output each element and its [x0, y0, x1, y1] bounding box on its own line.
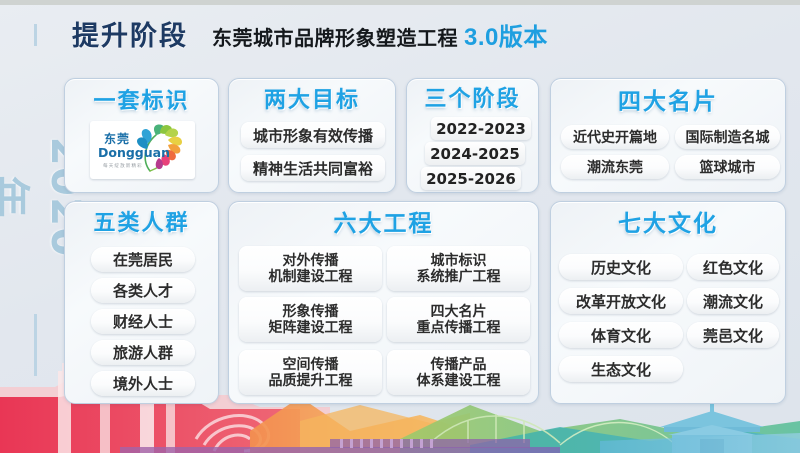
- card-three-phases[interactable]: 三个阶段 2022-2023 2024-2025 2025-2026: [406, 78, 539, 193]
- year-rail: 2020年: [8, 24, 60, 424]
- project-item-3[interactable]: 形象传播 矩阵建设工程: [239, 297, 382, 342]
- project-item-3-line1: 形象传播: [283, 304, 339, 320]
- header: 提升阶段 东莞城市品牌形象塑造工程 3.0版本: [72, 14, 548, 53]
- card-six-projects[interactable]: 六大工程 对外传播 机制建设工程 城市标识 系统推广工程 形象传播 矩阵建设工程…: [228, 201, 539, 404]
- project-item-1-line1: 对外传播: [283, 253, 339, 269]
- card-five-people[interactable]: 五类人群 在莞居民 各类人才 财经人士 旅游人群 境外人士: [64, 201, 219, 404]
- card-two-goals[interactable]: 两大目标 城市形象有效传播 精神生活共同富裕: [228, 78, 396, 193]
- project-item-2-line2: 系统推广工程: [417, 269, 501, 285]
- culture-item-2[interactable]: 红色文化: [687, 254, 779, 280]
- card-title-phases: 三个阶段: [407, 88, 538, 110]
- project-item-6-line2: 体系建设工程: [417, 373, 501, 389]
- svg-text:每天绽放新精彩: 每天绽放新精彩: [103, 162, 143, 169]
- project-item-5[interactable]: 空间传播 品质提升工程: [239, 350, 382, 395]
- phase-item-3[interactable]: 2025-2026: [421, 167, 521, 190]
- card-title-namecards: 四大名片: [551, 90, 785, 113]
- project-item-4[interactable]: 四大名片 重点传播工程: [387, 297, 530, 342]
- card-four-namecards[interactable]: 四大名片 近代史开篇地 国际制造名城 潮流东莞 篮球城市: [550, 78, 786, 193]
- infographic-root: 2020年 提升阶段 东莞城市品牌形象塑造工程 3.0版本 一套标识: [0, 0, 800, 453]
- people-item-1[interactable]: 在莞居民: [91, 247, 195, 272]
- card-title-people: 五类人群: [65, 212, 218, 234]
- project-item-4-line1: 四大名片: [431, 304, 487, 320]
- project-item-6-line1: 传播产品: [431, 357, 487, 373]
- rail-line-top: [34, 24, 37, 46]
- rail-line-bottom: [34, 314, 37, 376]
- culture-item-7[interactable]: 生态文化: [559, 356, 683, 382]
- project-item-2[interactable]: 城市标识 系统推广工程: [387, 246, 530, 291]
- project-item-3-line2: 矩阵建设工程: [269, 320, 353, 336]
- card-title-goals: 两大目标: [229, 89, 395, 111]
- project-item-2-line1: 城市标识: [431, 253, 487, 269]
- card-seven-cultures[interactable]: 七大文化 历史文化 红色文化 改革开放文化 潮流文化 体育文化 莞邑文化 生态文…: [550, 201, 786, 404]
- project-item-5-line1: 空间传播: [283, 357, 339, 373]
- people-item-5[interactable]: 境外人士: [91, 371, 195, 396]
- project-item-5-line2: 品质提升工程: [269, 373, 353, 389]
- header-version-label: 3.0版本: [464, 17, 548, 52]
- card-one-identity[interactable]: 一套标识 东莞: [64, 78, 219, 193]
- culture-item-4[interactable]: 潮流文化: [687, 288, 779, 314]
- dongguan-logo: 东莞 Dongguan 每天绽放新精彩: [90, 121, 195, 179]
- people-item-4[interactable]: 旅游人群: [91, 340, 195, 365]
- culture-item-6[interactable]: 莞邑文化: [687, 322, 779, 348]
- namecard-item-3[interactable]: 潮流东莞: [561, 155, 669, 179]
- culture-item-1[interactable]: 历史文化: [559, 254, 683, 280]
- card-title-projects: 六大工程: [229, 212, 538, 235]
- namecard-item-4[interactable]: 篮球城市: [675, 155, 780, 179]
- people-item-2[interactable]: 各类人才: [91, 278, 195, 303]
- card-title-identity: 一套标识: [65, 90, 218, 112]
- project-item-1-line2: 机制建设工程: [269, 269, 353, 285]
- people-item-3[interactable]: 财经人士: [91, 309, 195, 334]
- goal-item-1[interactable]: 城市形象有效传播: [241, 122, 385, 148]
- culture-item-5[interactable]: 体育文化: [559, 322, 683, 348]
- project-item-6[interactable]: 传播产品 体系建设工程: [387, 350, 530, 395]
- top-strip: [0, 0, 800, 5]
- header-main-title: 东莞城市品牌形象塑造工程: [212, 22, 458, 51]
- card-title-cultures: 七大文化: [551, 212, 785, 235]
- project-item-4-line2: 重点传播工程: [417, 320, 501, 336]
- namecard-item-2[interactable]: 国际制造名城: [675, 125, 780, 149]
- culture-item-3[interactable]: 改革开放文化: [559, 288, 683, 314]
- header-stage-label: 提升阶段: [72, 14, 188, 53]
- svg-text:东莞: 东莞: [104, 131, 130, 146]
- project-item-1[interactable]: 对外传播 机制建设工程: [239, 246, 382, 291]
- namecard-item-1[interactable]: 近代史开篇地: [561, 125, 669, 149]
- goal-item-2[interactable]: 精神生活共同富裕: [241, 155, 385, 181]
- logo-flower-icon: 东莞 Dongguan 每天绽放新精彩: [90, 121, 195, 179]
- phase-item-1[interactable]: 2022-2023: [431, 117, 531, 140]
- phase-item-2[interactable]: 2024-2025: [425, 142, 525, 165]
- svg-text:Dongguan: Dongguan: [98, 145, 170, 160]
